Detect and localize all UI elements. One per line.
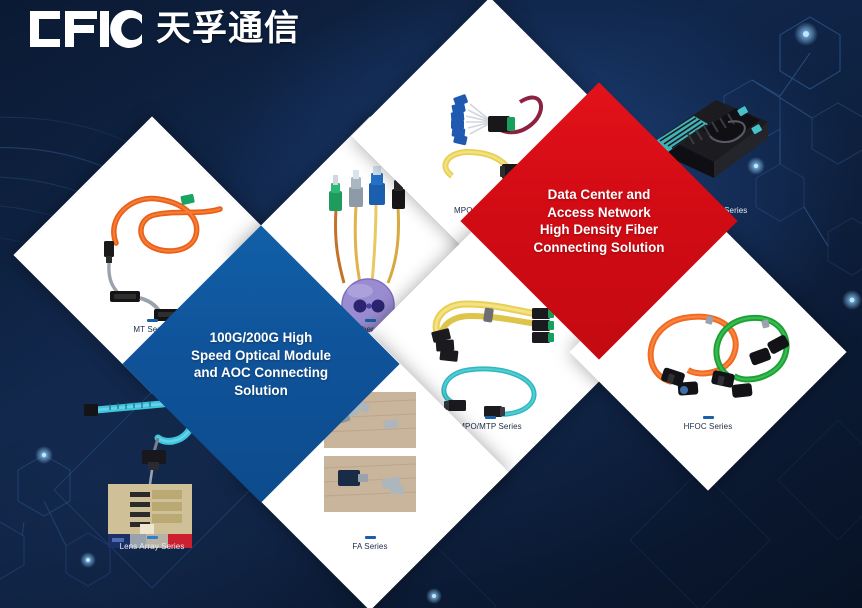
solution-line: Speed Optical Module bbox=[172, 347, 350, 365]
product-label: Lens Array Series bbox=[120, 542, 185, 551]
solution-line: Access Network bbox=[510, 204, 688, 222]
solution-line: Data Center and bbox=[510, 186, 688, 204]
product-caption-hfoc-series: HFOC Series bbox=[610, 416, 806, 432]
solution-line: and AOC Connecting bbox=[172, 364, 350, 382]
solution-line: 100G/200G High bbox=[172, 329, 350, 347]
caption-dash-icon bbox=[365, 319, 376, 322]
product-diamond-grid: MT Series bbox=[0, 0, 862, 608]
caption-dash-icon bbox=[703, 416, 714, 419]
product-label: HFOC Series bbox=[684, 422, 733, 431]
solution-line: Solution bbox=[172, 382, 350, 400]
solution-text-high-speed-optical: 100G/200G High Speed Optical Module and … bbox=[172, 329, 350, 399]
caption-dash-icon bbox=[147, 319, 158, 322]
product-label: FA Series bbox=[352, 542, 387, 551]
solution-line: Connecting Solution bbox=[510, 239, 688, 257]
product-label: MPO/MTP Series bbox=[458, 422, 522, 431]
caption-dash-icon bbox=[365, 536, 376, 539]
solution-line: High Density Fiber bbox=[510, 221, 688, 239]
product-caption-fa-series: FA Series bbox=[272, 536, 468, 552]
caption-dash-icon bbox=[485, 416, 496, 419]
solution-text-data-center: Data Center and Access Network High Dens… bbox=[510, 186, 688, 256]
poster-canvas: 天孚通信 bbox=[0, 0, 862, 608]
caption-dash-icon bbox=[147, 536, 158, 539]
product-caption-lens-array-series: Lens Array Series bbox=[54, 536, 250, 552]
